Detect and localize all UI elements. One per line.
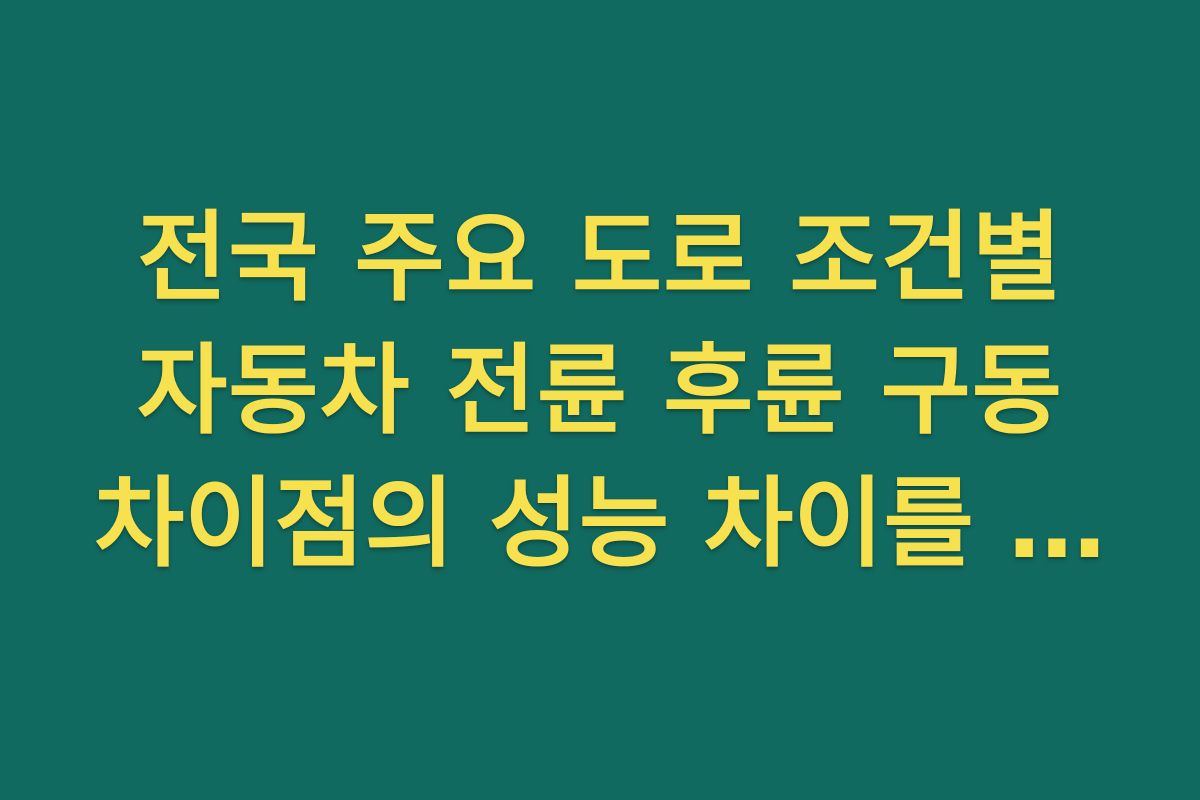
text-card: 전국 주요 도로 조건별 자동차 전륜 후륜 구동 차이점의 성능 차이를 … [0, 0, 1200, 800]
headline-line-1: 전국 주요 도로 조건별 [60, 192, 1140, 325]
headline-line-2: 자동차 전륜 후륜 구동 [60, 325, 1140, 458]
headline-line-3: 차이점의 성능 차이를 … [60, 458, 1140, 591]
headline-block: 전국 주요 도로 조건별 자동차 전륜 후륜 구동 차이점의 성능 차이를 … [60, 192, 1140, 591]
